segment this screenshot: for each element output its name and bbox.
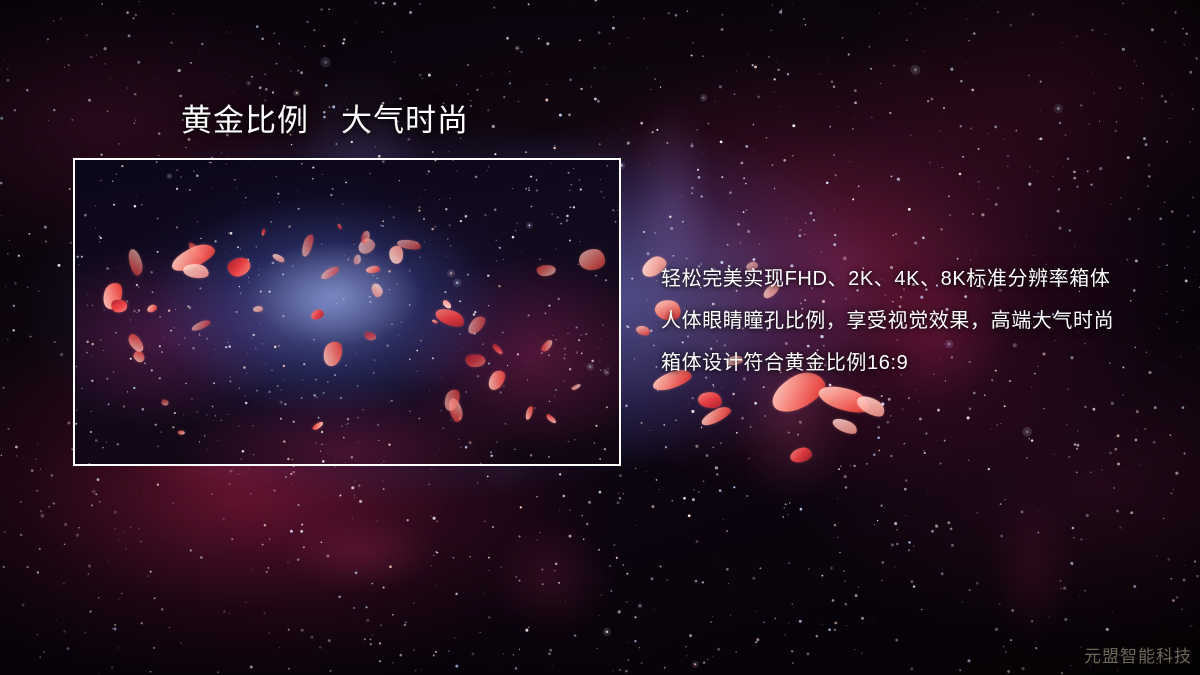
watermark: 元盟智能科技 [1084,642,1192,667]
petal [635,324,651,337]
petal [854,392,888,421]
body-line-1: 轻松完美实现FHD、2K、4K、8K标准分辨率箱体 [661,258,1181,300]
page-title: 黄金比例 大气时尚 [181,101,469,141]
body-line-3: 箱体设计符合黄金比例16:9 [661,342,1181,384]
body-text-block: 轻松完美实现FHD、2K、4K、8K标准分辨率箱体 人体眼睛瞳孔比例，享受视觉效… [661,258,1181,384]
presentation-slide: 黄金比例 大气时尚 轻松完美实现FHD、2K、4K、8K标准分辨率箱体 人体眼睛… [0,0,1200,675]
petal [831,415,860,437]
body-line-2: 人体眼睛瞳孔比例，享受视觉效果，高端大气时尚 [661,300,1181,342]
petal [789,446,813,464]
